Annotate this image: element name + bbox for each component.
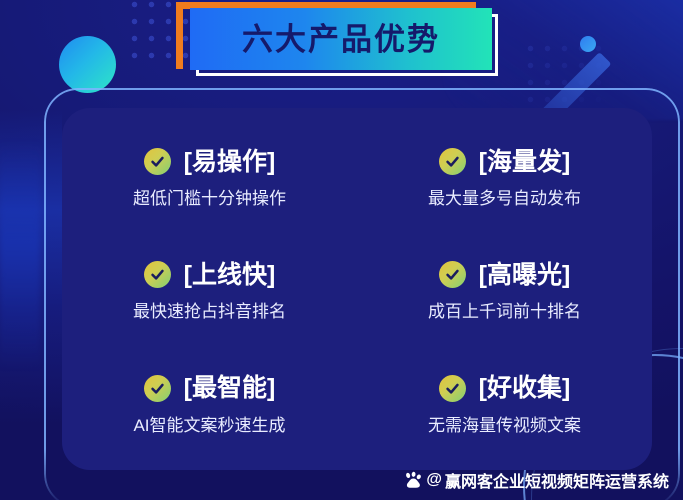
check-circle-icon [144,148,171,175]
check-circle-icon [144,375,171,402]
feature-grid: [易操作] 超低门槛十分钟操作 [海量发] 最大量多号自动发布 [上线快] 最快… [62,108,652,470]
check-circle-icon [144,261,171,288]
feature-title: [海量发] [479,149,571,175]
watermark: @ 赢网客企业短视频矩阵运营系统 [404,468,669,492]
check-circle-icon [439,261,466,288]
watermark-at: @ [426,471,442,489]
feature-subtitle: 最大量多号自动发布 [428,184,581,209]
watermark-text: 赢网客企业短视频矩阵运营系统 [445,468,669,492]
feature-heading: [高曝光] [439,261,571,288]
feature-item: [上线快] 最快速抢占抖音排名 [62,235,357,348]
feature-subtitle: AI智能文案秒速生成 [133,411,285,436]
baidu-paw-icon [404,471,423,490]
title-banner-fill: 六大产品优势 [190,8,492,70]
feature-subtitle: 最快速抢占抖音排名 [133,297,286,322]
decorative-circle-large [59,36,116,93]
check-circle-icon [439,148,466,175]
feature-heading: [好收集] [439,375,571,402]
feature-item: [好收集] 无需海量传视频文案 [357,349,652,462]
feature-title: [高曝光] [479,262,571,288]
feature-subtitle: 成百上千词前十排名 [428,297,581,322]
feature-title: [好收集] [479,375,571,401]
check-circle-icon [439,375,466,402]
feature-item: [高曝光] 成百上千词前十排名 [357,235,652,348]
left-glow-band-inner [0,140,40,370]
feature-item: [易操作] 超低门槛十分钟操作 [62,122,357,235]
feature-title: [最智能] [184,375,276,401]
decorative-circle-small [580,36,596,52]
feature-heading: [上线快] [144,261,276,288]
feature-item: [海量发] 最大量多号自动发布 [357,122,652,235]
feature-item: [最智能] AI智能文案秒速生成 [62,349,357,462]
feature-subtitle: 超低门槛十分钟操作 [133,184,286,209]
feature-title: [上线快] [184,262,276,288]
poster-canvas: 六大产品优势 [易操作] 超低门槛十分钟操作 [海量发] 最大量多号自动发布 [0,0,683,500]
feature-heading: [最智能] [144,375,276,402]
feature-subtitle: 无需海量传视频文案 [428,411,581,436]
feature-title: [易操作] [184,149,276,175]
page-title: 六大产品优势 [242,24,440,55]
title-banner: 六大产品优势 [176,2,506,74]
feature-heading: [易操作] [144,148,276,175]
feature-heading: [海量发] [439,148,571,175]
